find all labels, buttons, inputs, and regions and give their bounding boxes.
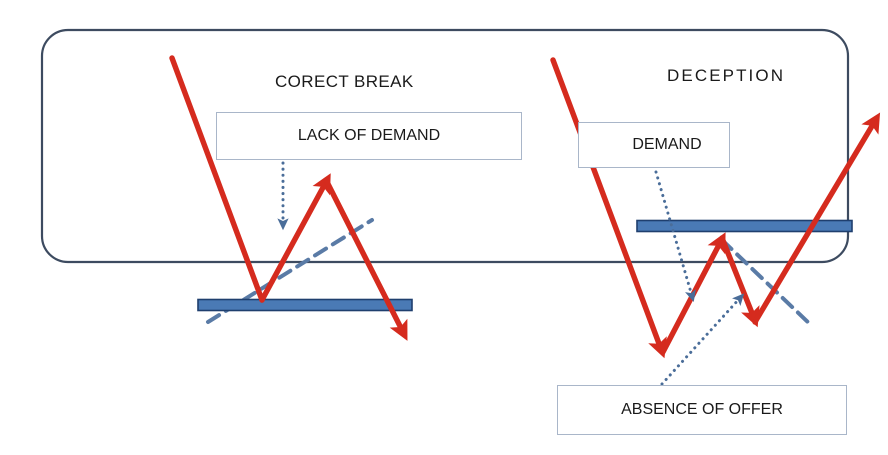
price-line-right [553,60,661,349]
diagram-canvas: CORECT BREAK DECEPTION LACK OF DEMAND DE… [0,0,888,455]
pointer-demand [656,172,692,296]
price-line-left [172,58,262,300]
pointer-absence-of-offer [662,298,740,384]
price-action-diagram [0,0,888,455]
resistance-level-bar-right [637,221,852,232]
price-rally-left [262,182,326,300]
support-level-bar-left [198,300,412,311]
price-pullback-right [722,238,754,318]
